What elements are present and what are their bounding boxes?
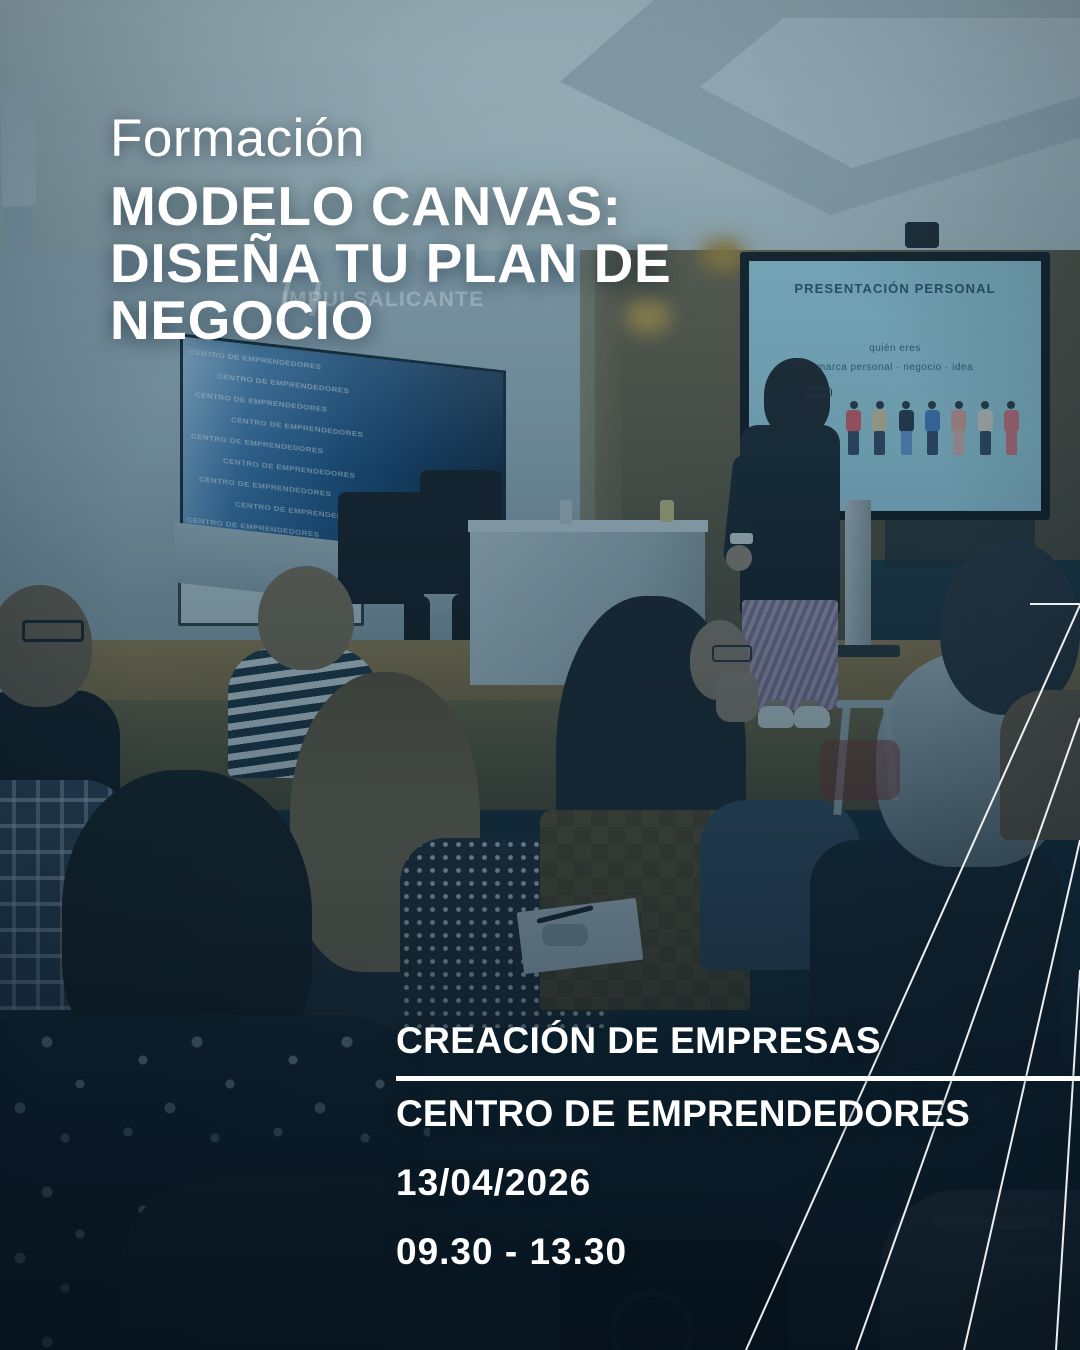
event-details: CREACIÓN DE EMPRESAS CENTRO DE EMPRENDED…: [396, 1022, 1080, 1272]
eyebrow-label: Formación: [110, 112, 365, 165]
program-label: CREACIÓN DE EMPRESAS: [396, 1022, 1080, 1061]
event-time: 09.30 - 13.30: [396, 1233, 1080, 1272]
event-poster: CENTRO DE EMPRENDEDORES CENTRO DE EMPREN…: [0, 0, 1080, 1350]
venue-label: CENTRO DE EMPRENDEDORES: [396, 1095, 1080, 1134]
divider: [396, 1076, 1080, 1081]
page-title: MODELO CANVAS: DISEÑA TU PLAN DE NEGOCIO: [110, 178, 710, 349]
event-date: 13/04/2026: [396, 1164, 1080, 1203]
